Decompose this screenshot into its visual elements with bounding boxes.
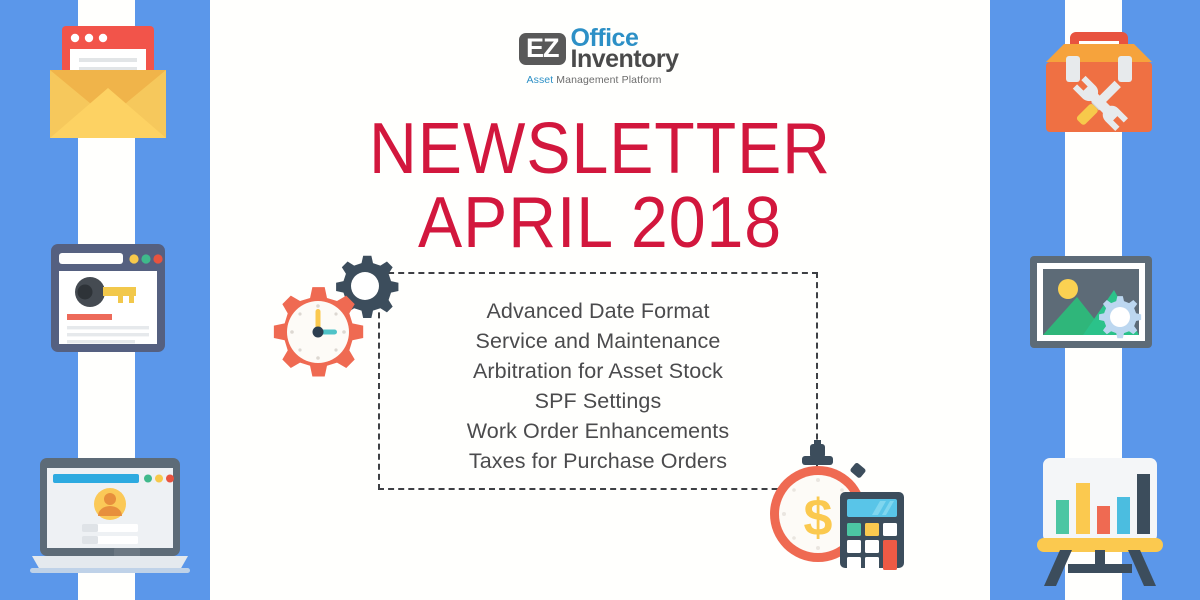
banner-canvas: EZ Office Inventory Asset Management Pla… — [0, 0, 1200, 600]
browser-key-icon — [48, 238, 168, 362]
email-envelope-icon — [44, 22, 172, 144]
logo-tagline: Asset Management Platform — [519, 74, 669, 86]
logo-tagline-accent: Asset — [527, 74, 554, 86]
laptop-login-icon — [30, 450, 190, 586]
list-item: Work Order Enhancements — [378, 416, 818, 446]
page-title: NEWSLETTER APRIL 2018 — [330, 112, 870, 260]
bar-chart-easel-icon — [1032, 452, 1168, 588]
svg-text:$: $ — [804, 489, 833, 547]
logo-ez-badge: EZ — [519, 33, 566, 65]
list-item: Service and Maintenance — [378, 326, 818, 356]
headline-line-2: APRIL 2018 — [352, 186, 849, 260]
list-item: Arbitration for Asset Stock — [378, 356, 818, 386]
stopwatch-calculator-icon: $ — [768, 442, 908, 570]
feature-list: Advanced Date Format Service and Mainten… — [378, 296, 818, 476]
image-settings-icon — [1028, 252, 1172, 364]
list-item: Taxes for Purchase Orders — [378, 446, 818, 476]
logo-words: Office Inventory — [571, 28, 679, 70]
logo-wordmark: EZ Office Inventory — [519, 28, 669, 70]
logo-tagline-rest: Management Platform — [553, 74, 661, 86]
ezofficeinventory-logo[interactable]: EZ Office Inventory Asset Management Pla… — [519, 28, 669, 90]
logo-word-inventory: Inventory — [571, 49, 679, 70]
clock-gear-icon — [258, 244, 406, 386]
headline-line-1: NEWSLETTER — [352, 112, 849, 186]
toolbox-icon — [1038, 24, 1160, 144]
list-item: SPF Settings — [378, 386, 818, 416]
list-item: Advanced Date Format — [378, 296, 818, 326]
